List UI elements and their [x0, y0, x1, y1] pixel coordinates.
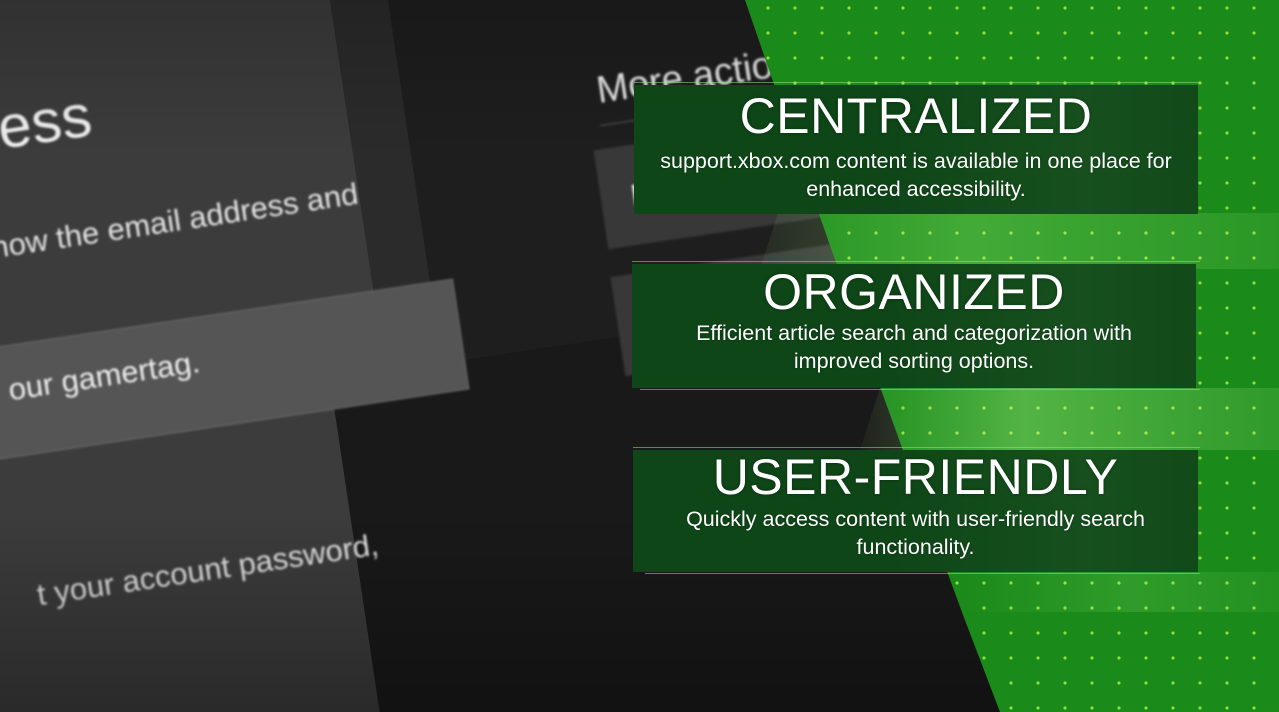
card-divider-top-1 [634, 82, 1200, 83]
card-divider-bottom-2 [640, 389, 1200, 390]
card-divider-bottom-3 [645, 573, 1200, 574]
feature-card-list: CENTRALIZED support.xbox.com content is … [0, 0, 1279, 712]
feature-card-title: ORGANIZED [763, 266, 1065, 318]
feature-card-description: Efficient article search and categorizat… [655, 319, 1174, 376]
card-divider-top-2 [632, 261, 1200, 262]
feature-card-organized[interactable]: ORGANIZED Efficient article search and c… [632, 264, 1196, 388]
feature-card-title: CENTRALIZED [740, 90, 1093, 142]
feature-card-description: Quickly access content with user-friendl… [656, 505, 1176, 562]
feature-card-user-friendly[interactable]: USER-FRIENDLY Quickly access content wit… [633, 450, 1198, 572]
slide-canvas: ress now the email address and our gamer… [0, 0, 1279, 712]
feature-card-description: support.xbox.com content is available in… [657, 147, 1176, 204]
card-divider-top-3 [633, 447, 1200, 448]
feature-card-centralized[interactable]: CENTRALIZED support.xbox.com content is … [634, 85, 1198, 214]
feature-card-title: USER-FRIENDLY [713, 451, 1119, 503]
